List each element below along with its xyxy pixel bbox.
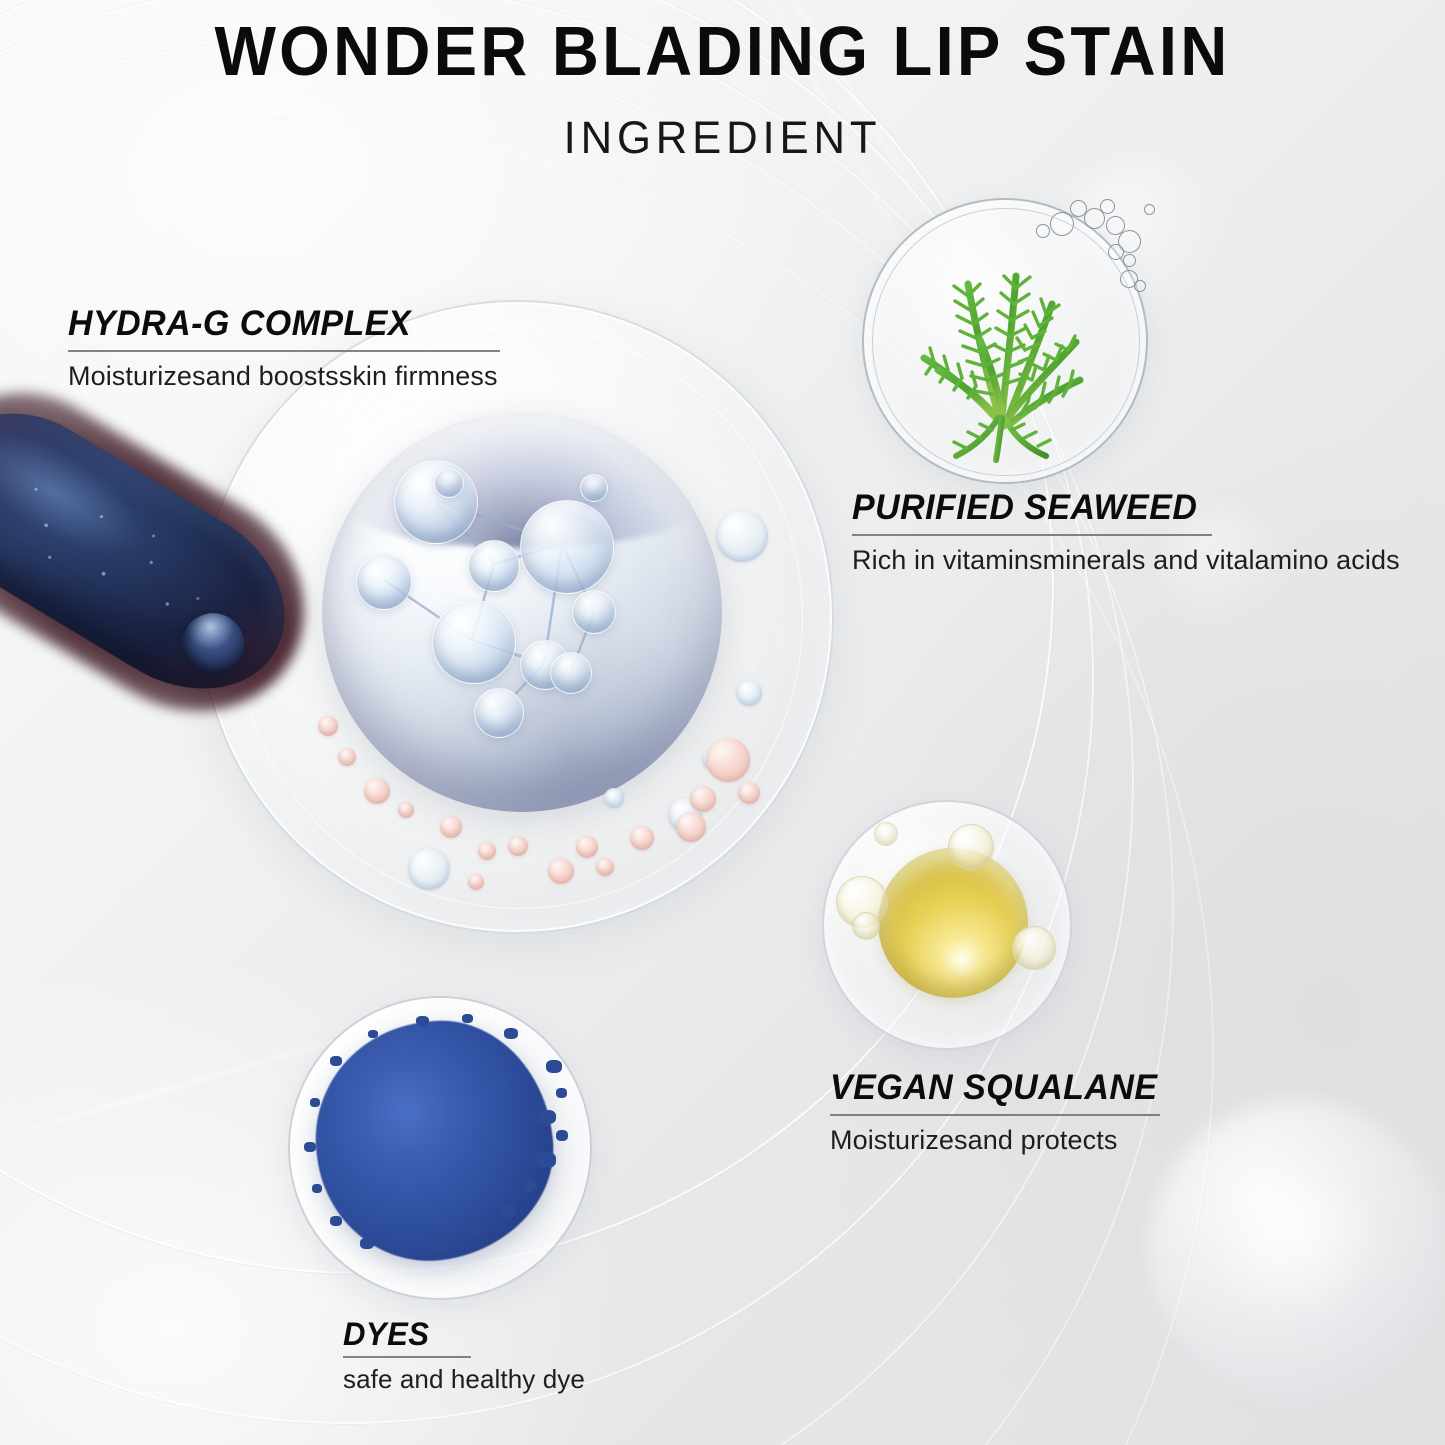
droplet-pink	[398, 802, 414, 818]
page-title: WONDER BLADING LIP STAIN	[51, 16, 1395, 86]
callout-description: Moisturizesand protects	[830, 1125, 1168, 1156]
droplet-clear	[736, 680, 762, 706]
callout-title: HYDRA-G COMPLEX	[68, 306, 487, 343]
molecule-node	[474, 688, 524, 738]
callout-title: PURIFIED SEAWEED	[852, 490, 1383, 527]
molecule-node	[580, 474, 608, 502]
droplet-pink	[468, 874, 484, 890]
molecule-node	[434, 468, 464, 498]
callout-hydra-g-complex: HYDRA-G COMPLEX Moisturizesand boostsski…	[68, 306, 500, 392]
callout-rule	[343, 1356, 471, 1358]
callout-rule	[68, 350, 500, 352]
molecule-icon	[322, 412, 722, 812]
callout-rule	[830, 1114, 1160, 1116]
molecule-node	[394, 460, 478, 544]
droplet-pink	[508, 836, 528, 856]
molecule-node	[520, 500, 614, 594]
callout-vegan-squalane: VEGAN SQUALANE Moisturizesand protects	[830, 1070, 1168, 1156]
molecule-node	[468, 540, 520, 592]
droplet-pink	[596, 858, 614, 876]
droplet-clear	[716, 510, 768, 562]
droplet-pink	[676, 812, 706, 842]
oil-droplet-icon	[878, 848, 1028, 998]
molecule-node	[550, 652, 592, 694]
droplet-pink	[576, 836, 598, 858]
bokeh-bubble	[1148, 1100, 1445, 1400]
callout-description: safe and healthy dye	[343, 1364, 585, 1395]
droplet-pink	[364, 778, 390, 804]
droplet-pink	[478, 842, 496, 860]
oil-bubble	[1012, 926, 1056, 970]
oil-bubble	[852, 912, 880, 940]
seaweed-icon	[880, 218, 1130, 468]
molecule-node	[356, 554, 412, 610]
droplet-pink	[548, 858, 574, 884]
droplet-pink	[338, 748, 356, 766]
molecule-node	[572, 590, 616, 634]
callout-title: VEGAN SQUALANE	[830, 1070, 1157, 1107]
callout-description: Moisturizesand boostsskin firmness	[68, 361, 500, 392]
callout-title: DYES	[343, 1318, 578, 1352]
bokeh-bubble	[1232, 1182, 1382, 1332]
callout-dyes: DYES safe and healthy dye	[343, 1318, 585, 1395]
callout-description: Rich in vitaminsminerals and vitalamino …	[852, 545, 1400, 576]
callout-rule	[852, 534, 1212, 536]
droplet-pink	[690, 786, 716, 812]
droplet-clear	[604, 788, 624, 808]
oil-bubble	[874, 822, 898, 846]
droplet-pink	[440, 816, 462, 838]
droplet-pink	[706, 738, 750, 782]
droplet-pink	[630, 826, 654, 850]
oil-bubble	[948, 824, 994, 870]
droplet-pink	[738, 782, 760, 804]
droplet-clear	[408, 848, 450, 890]
ingredient-infographic: WONDER BLADING LIP STAIN INGREDIENT	[0, 0, 1445, 1445]
callout-purified-seaweed: PURIFIED SEAWEED Rich in vitaminsmineral…	[852, 490, 1400, 576]
page-subtitle: INGREDIENT	[22, 112, 1424, 164]
droplet-pink	[318, 716, 338, 736]
molecule-node	[432, 600, 516, 684]
